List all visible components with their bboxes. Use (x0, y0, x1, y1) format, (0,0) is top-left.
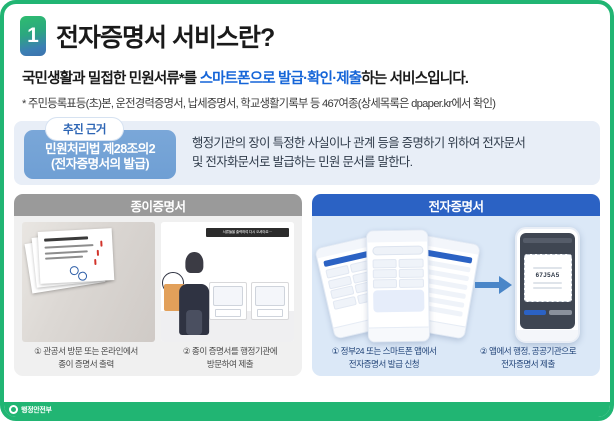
panel-paper-caption-1: ① 관공서 방문 또는 온라인에서 종이 증명서 출력 (14, 345, 158, 370)
person-body (179, 284, 209, 335)
legal-basis-law-line2: (전자증명서의 발급) (51, 157, 149, 173)
promo-card-mock (373, 289, 424, 312)
subtitle: 국민생활과 밀접한 민원서류*를 스마트폰으로 발급·확인·제출하는 서비스입니… (22, 67, 610, 88)
cancel-button-mock (549, 310, 571, 316)
ministry-logo: 행정안전부 (9, 405, 52, 415)
legal-basis-description-line1: 행정기관의 장이 특정한 사실이나 관계 등을 증명하기 위하여 전자문서 (192, 134, 525, 153)
ministry-logo-icon (9, 405, 18, 414)
legal-basis-badge-group: 추진 근거 민원처리법 제28조의2 (전자증명서의 발급) (24, 127, 176, 179)
legal-basis-chip: 추진 근거 (46, 118, 123, 140)
panel-digital-heading: 전자증명서 (312, 194, 600, 216)
three-smartphone-app-screens (324, 225, 468, 339)
smartphone-screen (366, 229, 430, 342)
infographic-card: 1 전자증명서 서비스란? 국민생활과 밀접한 민원서류*를 스마트폰으로 발급… (0, 0, 614, 421)
panel-digital-certificate: 전자증명서 (312, 194, 600, 376)
paper-sheet (38, 228, 115, 284)
submit-button-mock (524, 310, 546, 316)
subtitle-text-after: 하는 서비스입니다. (361, 71, 468, 87)
section-number-badge: 1 (20, 16, 46, 56)
panel-paper-certificate: 종이증명서 (14, 194, 302, 376)
header: 1 전자증명서 서비스란? (4, 4, 610, 56)
subtitle-highlight: 스마트폰으로 발급·확인·제출 (200, 71, 362, 87)
search-field-mock (372, 245, 423, 256)
person-hair (186, 252, 203, 273)
page-title: 전자증명서 서비스란? (56, 18, 274, 54)
document-stamp-icon (78, 271, 87, 280)
ministry-name: 행정안전부 (21, 405, 52, 415)
service-desk (209, 282, 247, 320)
legal-basis-law-line1: 민원처리법 제28조의2 (45, 142, 155, 158)
legal-basis-band: 추진 근거 민원처리법 제28조의2 (전자증명서의 발급) 행정기관의 장이 … (14, 121, 600, 185)
panel-paper-artwork: 서류들을 출력하여 다시 오셔야죠 ··· (14, 222, 302, 342)
panel-paper-caption-2: ② 종이 증명서를 행정기관에 방문하여 제출 (158, 345, 302, 370)
office-banner-text: 서류들을 출력하여 다시 오셔야죠 ··· (206, 228, 288, 237)
blue-right-arrow (475, 277, 512, 293)
footnote: * 주민등록표등(초)본, 운전경력증명서, 납세증명서, 학교생활기록부 등 … (22, 95, 610, 111)
red-check-mark (100, 241, 102, 247)
comparison-panels: 종이증명서 (14, 194, 600, 376)
panel-paper-captions: ① 관공서 방문 또는 온라인에서 종이 증명서 출력 ② 종이 증명서를 행정… (14, 345, 302, 370)
smartphone-showing-certificate-code: 67J5A5 (515, 227, 579, 343)
panel-digital-caption-2: ② 앱에서 행정, 공공기관으로 전자증명서 제출 (456, 345, 600, 370)
government-office-counter-illustration: 서류들을 출력하여 다시 오셔야죠 ··· (161, 222, 294, 342)
certificate-code-card: 67J5A5 (524, 254, 572, 302)
legal-basis-description: 행정기관의 장이 특정한 사실이나 관계 등을 증명하기 위하여 전자문서 및 … (192, 134, 525, 172)
panel-paper-heading: 종이증명서 (14, 194, 302, 216)
staff-person-illustration (177, 253, 212, 335)
subtitle-text-before: 국민생활과 밀접한 민원서류*를 (22, 71, 200, 87)
red-check-mark (94, 259, 96, 265)
keyboard-icon (257, 309, 283, 317)
footer-bar: 행정안전부 (4, 402, 610, 417)
keyboard-icon (215, 309, 241, 317)
person-apron (186, 310, 202, 335)
panel-digital-caption-1: ① 정부24 또는 스마트폰 앱에서 전자증명서 발급 신청 (312, 345, 456, 370)
service-desk (251, 282, 289, 320)
panel-digital-body: 67J5A5 ① 정부24 또는 스마트폰 앱에서 전자증명서 발급 신청 ② … (312, 216, 600, 376)
monitor-icon (213, 286, 243, 307)
stacked-paper-documents-photo (22, 222, 155, 342)
certificate-code: 67J5A5 (536, 272, 560, 279)
legal-basis-description-line2: 및 전자화문서로 발급하는 민원 문서를 말한다. (192, 153, 525, 172)
panel-paper-body: 서류들을 출력하여 다시 오셔야죠 ··· (14, 216, 302, 376)
red-check-mark (97, 250, 99, 256)
monitor-icon (255, 286, 285, 307)
panel-digital-artwork: 67J5A5 (312, 220, 600, 344)
panel-digital-captions: ① 정부24 또는 스마트폰 앱에서 전자증명서 발급 신청 ② 앱에서 행정,… (312, 345, 600, 370)
